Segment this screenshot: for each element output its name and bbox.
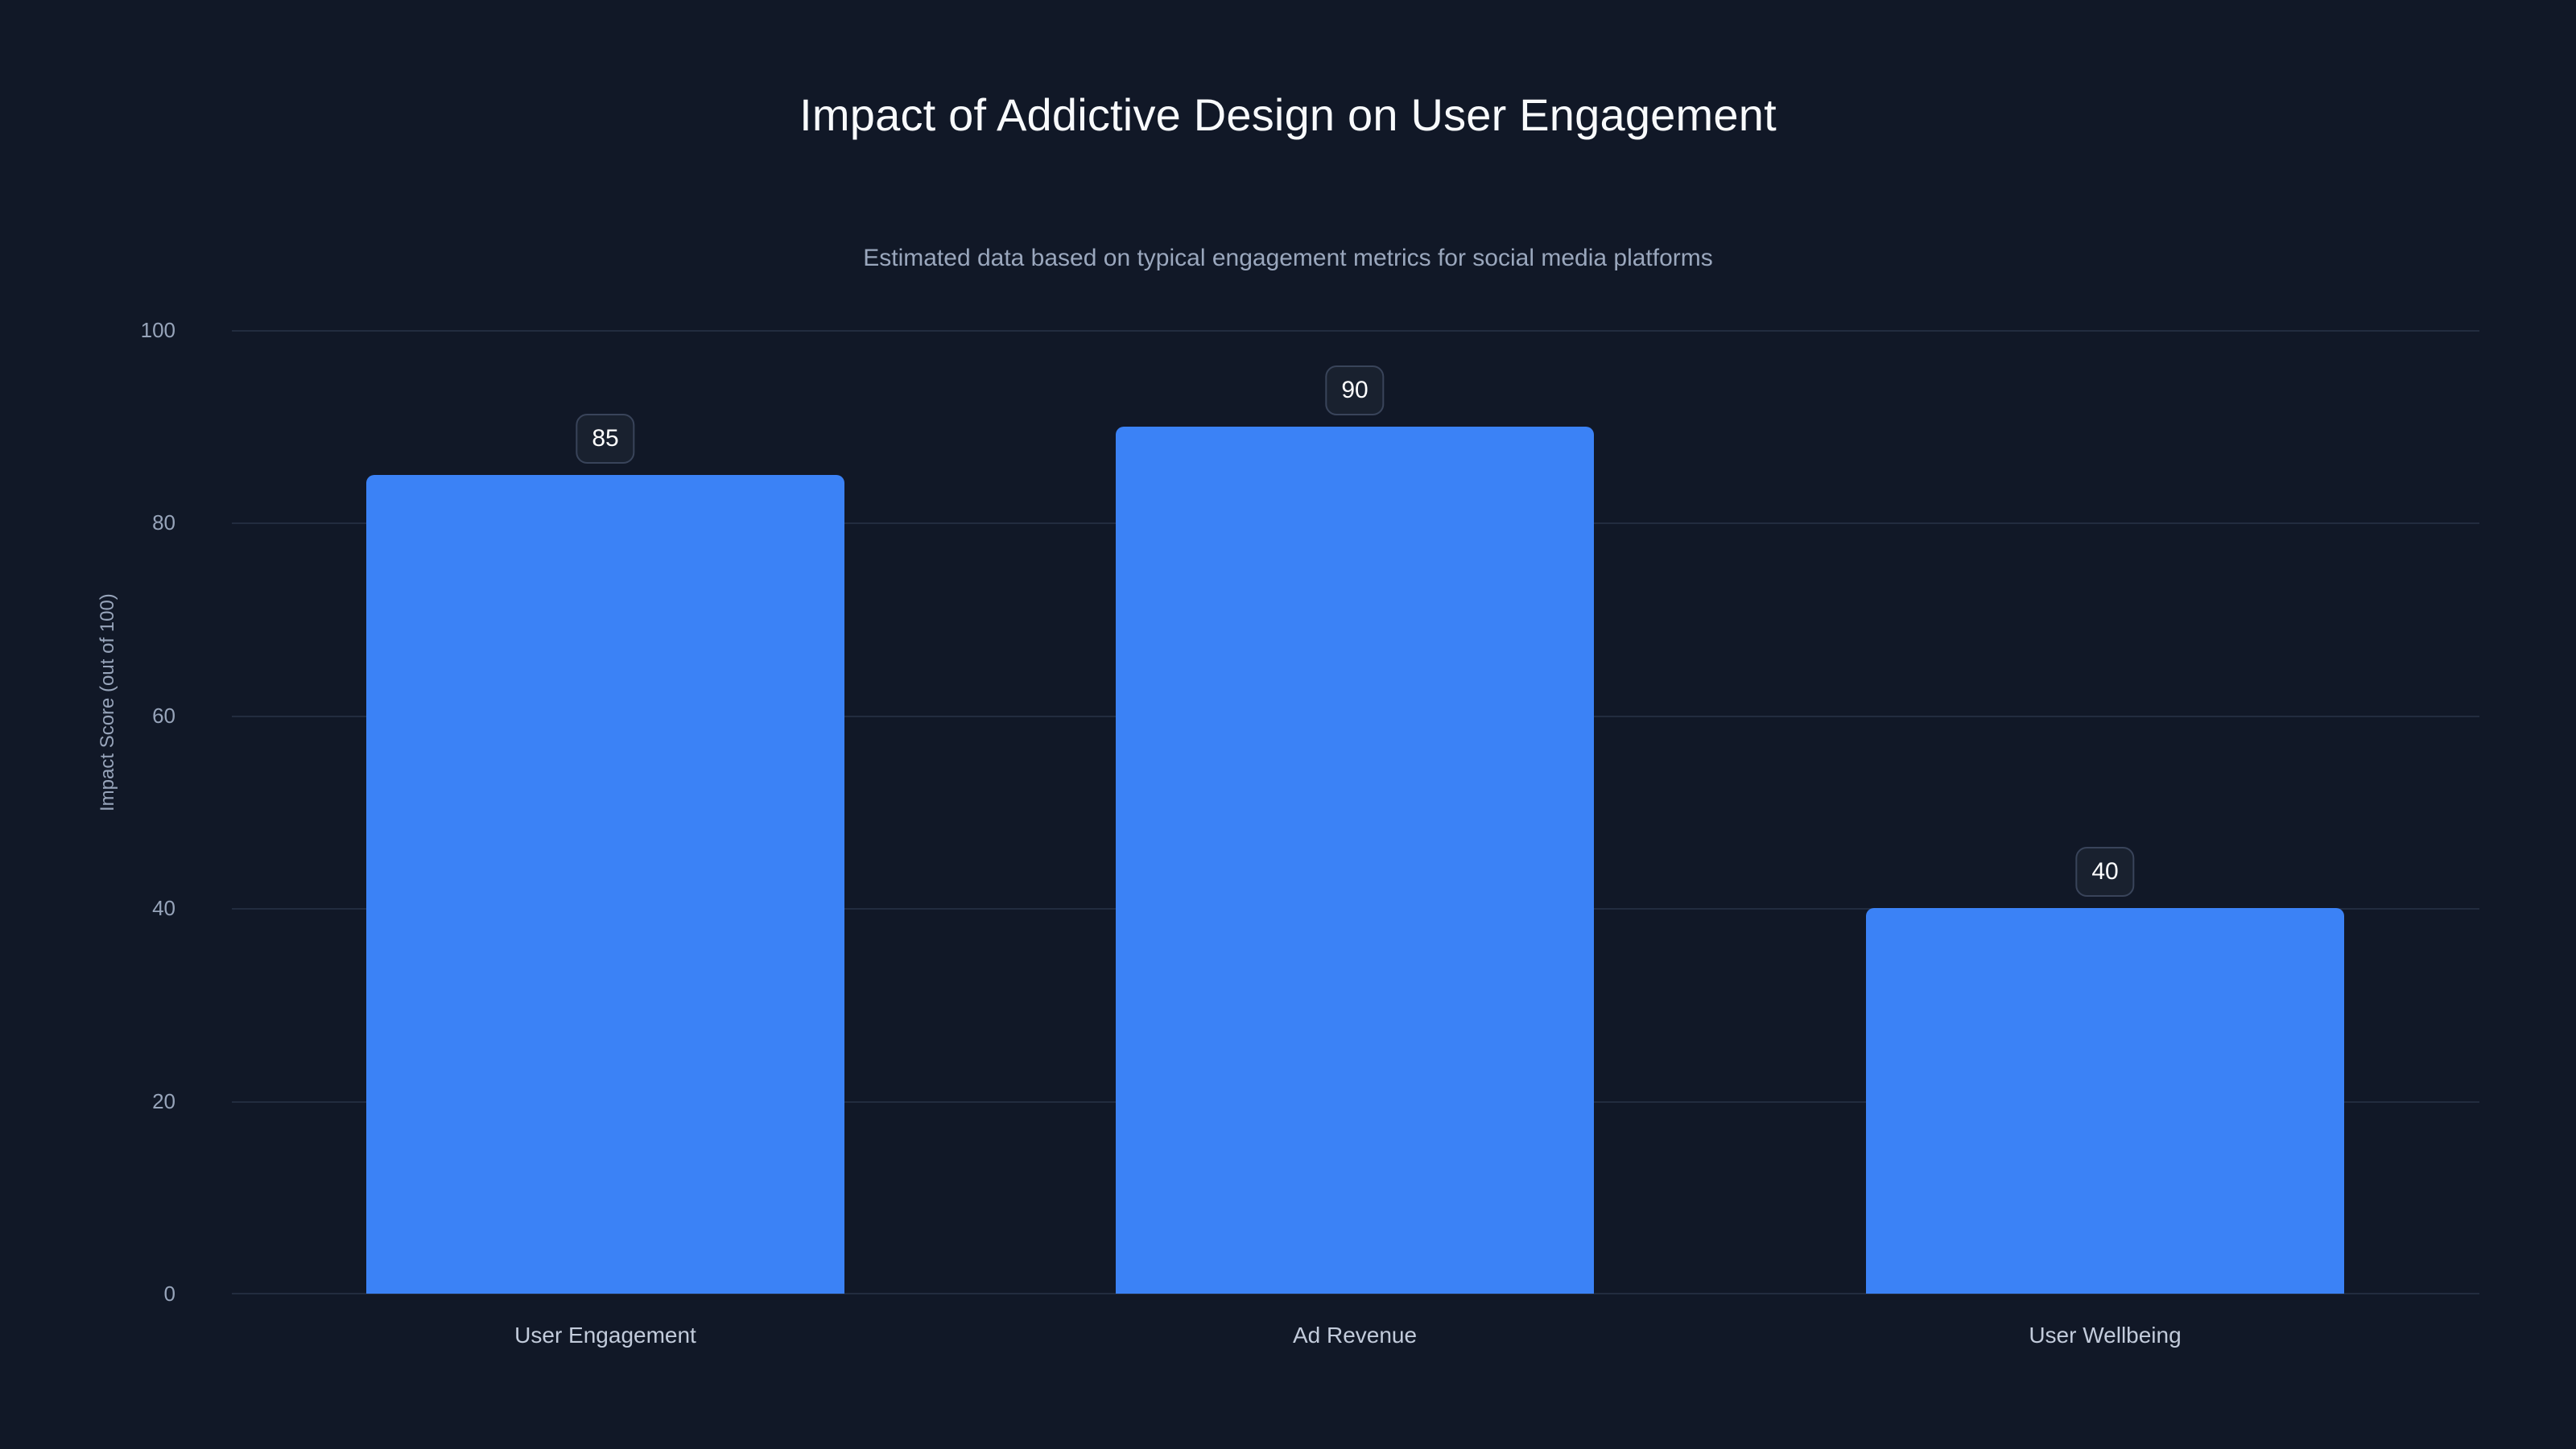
bar-user-engagement[interactable]	[366, 475, 844, 1294]
bar-chart: Impact of Addictive Design on User Engag…	[0, 0, 2576, 1449]
y-tick-label: 80	[152, 512, 175, 533]
x-axis-label-user-wellbeing: User Wellbeing	[2029, 1324, 2181, 1347]
y-tick-label: 40	[152, 898, 175, 919]
x-axis-label-ad-revenue: Ad Revenue	[1293, 1324, 1417, 1347]
bar-user-wellbeing[interactable]	[1866, 908, 2344, 1294]
y-tick-label: 20	[152, 1091, 175, 1112]
chart-title: Impact of Addictive Design on User Engag…	[0, 90, 2576, 140]
y-tick-label: 0	[164, 1283, 175, 1304]
bar-value-badge: 85	[576, 414, 634, 464]
x-axis-label-user-engagement: User Engagement	[514, 1324, 696, 1347]
bar-value-badge: 90	[1325, 365, 1384, 415]
y-axis-tick-labels: 100 80 60 40 20 0	[0, 330, 201, 1294]
y-tick-label: 60	[152, 705, 175, 726]
plot-area	[232, 330, 2479, 1294]
y-tick-label: 100	[141, 320, 175, 341]
bar-value-badge: 40	[2075, 847, 2134, 897]
chart-subtitle: Estimated data based on typical engageme…	[0, 244, 2576, 273]
gridline-100	[232, 330, 2479, 332]
bar-ad-revenue[interactable]	[1116, 427, 1594, 1294]
